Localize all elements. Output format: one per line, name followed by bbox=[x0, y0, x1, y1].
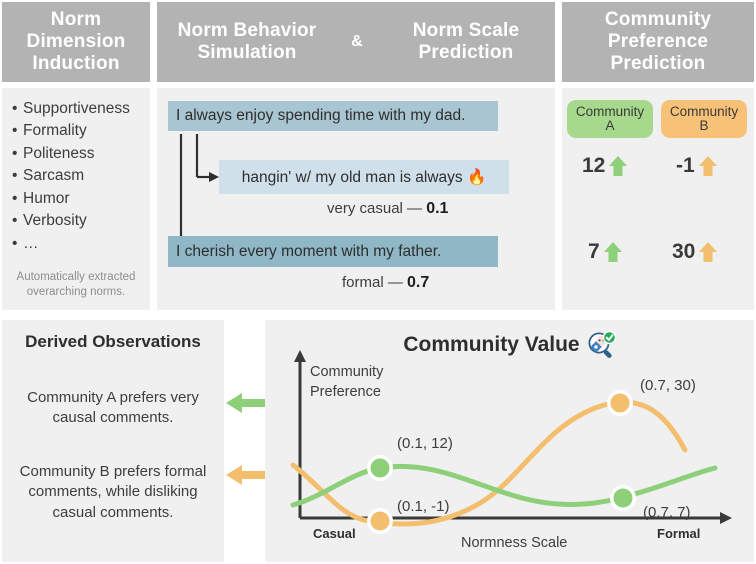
header-simulation-and-prediction: Norm Behavior Simulation & Norm Scale Pr… bbox=[157, 2, 555, 82]
score-a-formal-value: 7 bbox=[588, 240, 600, 264]
root-comment: I always enjoy spending time with my dad… bbox=[168, 101, 498, 131]
list-item: … bbox=[12, 233, 150, 255]
score-community-b-casual: -1 bbox=[676, 154, 718, 178]
header-norm-behavior-simulation: Norm Behavior Simulation bbox=[161, 20, 333, 64]
observation-item-b: Community B prefers formal comments, whi… bbox=[10, 462, 216, 523]
simulation-panel: I always enjoy spending time with my dad… bbox=[157, 88, 555, 310]
data-label-a-casual: (0.1, 12) bbox=[397, 435, 453, 452]
figure-root: Norm Dimension Induction Norm Behavior S… bbox=[0, 0, 756, 564]
header-community-preference-prediction: Community Preference Prediction bbox=[562, 2, 754, 82]
arrow-left-orange-icon bbox=[224, 462, 268, 488]
badge-community-b: Community B bbox=[661, 100, 747, 138]
upvote-arrow-icon bbox=[698, 241, 718, 263]
score-community-b-formal: 30 bbox=[672, 240, 718, 264]
score-community-a-formal: 7 bbox=[588, 240, 623, 264]
casual-scale-readout: very casual — 0.1 bbox=[327, 200, 448, 218]
derived-observations-panel: Derived Observations Community A prefers… bbox=[2, 320, 224, 562]
casual-comment: hangin' w/ my old man is always 🔥 bbox=[219, 160, 509, 194]
score-a-casual-value: 12 bbox=[582, 154, 605, 178]
arrow-left-green-icon bbox=[224, 390, 268, 416]
list-item: Humor bbox=[12, 188, 150, 210]
formal-comment: I cherish every moment with my father. bbox=[168, 236, 498, 267]
formal-scale-label: formal — bbox=[342, 274, 407, 291]
list-item: Verbosity bbox=[12, 210, 150, 232]
header-3-text: Community Preference Prediction bbox=[562, 9, 754, 75]
upvote-arrow-icon bbox=[603, 241, 623, 263]
badge-a-line1: Community bbox=[576, 105, 644, 119]
observations-title: Derived Observations bbox=[2, 332, 224, 352]
casual-scale-value: 0.1 bbox=[426, 200, 448, 217]
casual-scale-label: very casual — bbox=[327, 200, 426, 217]
header-norm-dimension-induction: Norm Dimension Induction bbox=[2, 2, 150, 82]
score-b-casual-value: -1 bbox=[676, 154, 695, 178]
x-axis-start-label: Casual bbox=[313, 526, 356, 541]
community-preference-panel: Community A Community B 12 -1 7 30 bbox=[562, 88, 754, 310]
header-ampersand: & bbox=[333, 33, 381, 52]
x-axis-label: Normness Scale bbox=[461, 535, 567, 551]
y-axis-label-line2: Preference bbox=[310, 384, 381, 400]
formal-scale-value: 0.7 bbox=[407, 274, 429, 291]
score-b-formal-value: 30 bbox=[672, 240, 695, 264]
data-label-b-formal: (0.7, 30) bbox=[640, 377, 696, 394]
header-norm-scale-prediction: Norm Scale Prediction bbox=[381, 20, 551, 64]
header-1-text: Norm Dimension Induction bbox=[2, 9, 150, 75]
data-point-b-casual bbox=[367, 508, 393, 534]
data-label-b-casual: (0.1, -1) bbox=[397, 498, 450, 515]
upvote-arrow-icon bbox=[608, 155, 628, 177]
formal-scale-readout: formal — 0.7 bbox=[342, 274, 429, 292]
observation-item-a: Community A prefers very causal comments… bbox=[10, 388, 216, 429]
data-label-a-formal: (0.7, 7) bbox=[643, 504, 691, 521]
y-axis-label-line1: Community bbox=[310, 364, 384, 380]
upvote-arrow-icon bbox=[698, 155, 718, 177]
badge-a-line2: A bbox=[605, 119, 614, 133]
x-axis-end-label: Formal bbox=[657, 526, 700, 541]
norm-dimension-note: Automatically extracted overarching norm… bbox=[2, 270, 150, 300]
community-value-chart: (0.1, 12) (0.1, -1) (0.7, 30) (0.7, 7) C… bbox=[265, 320, 754, 562]
badge-community-a: Community A bbox=[567, 100, 653, 138]
norm-dimension-panel: Supportiveness Formality Politeness Sarc… bbox=[2, 88, 150, 310]
community-value-chart-panel: Community Value bbox=[265, 320, 754, 562]
data-point-b-formal bbox=[607, 390, 633, 416]
list-item: Supportiveness bbox=[12, 98, 150, 120]
list-item: Sarcasm bbox=[12, 165, 150, 187]
list-item: Formality bbox=[12, 120, 150, 142]
score-community-a-casual: 12 bbox=[582, 154, 628, 178]
header-2-inner: Norm Behavior Simulation & Norm Scale Pr… bbox=[157, 20, 555, 64]
data-point-a-formal bbox=[610, 485, 636, 511]
norm-dimension-list: Supportiveness Formality Politeness Sarc… bbox=[2, 88, 150, 255]
badge-b-line2: B bbox=[699, 119, 708, 133]
list-item: Politeness bbox=[12, 143, 150, 165]
data-point-a-casual bbox=[367, 455, 393, 481]
badge-b-line1: Community bbox=[670, 105, 738, 119]
